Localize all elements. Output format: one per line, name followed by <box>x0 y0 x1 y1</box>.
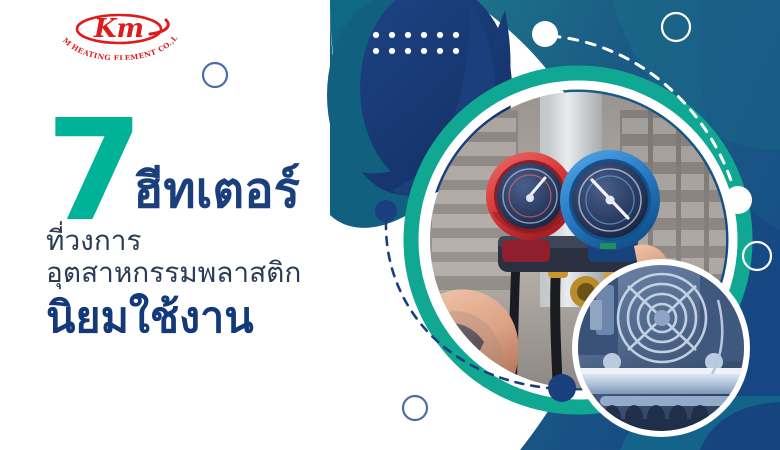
headline-final-line: นิยมใช้งาน <box>46 296 376 341</box>
headline-line-one: 7 ฮีทเตอร์ <box>46 108 376 220</box>
dashed-arc-navy-end-dot <box>548 374 576 402</box>
dashed-arc-navy-start-dot <box>375 200 397 222</box>
km-logo-mark: Km K V M HEATING ELEMENT CO.,LTD. <box>54 8 184 60</box>
svg-text:Km: Km <box>93 14 144 44</box>
blue-gauge <box>560 150 660 250</box>
dashed-arc-white-end-dot <box>724 186 752 214</box>
headline-sub-line-1: ที่วงการ <box>46 224 376 258</box>
promotional-banner: Km K V M HEATING ELEMENT CO.,LTD. 7 ฮีทเ… <box>0 0 780 450</box>
headline-block: 7 ฮีทเตอร์ ที่วงการ อุตสาหกรรมพลาสติก นิ… <box>46 108 376 341</box>
headline-word: ฮีทเตอร์ <box>133 166 300 216</box>
headline-number: 7 <box>46 117 139 226</box>
km-logo[interactable]: Km K V M HEATING ELEMENT CO.,LTD. <box>54 8 184 60</box>
headline-sub-line-2: อุตสาหกรรมพลาสติก <box>46 256 376 290</box>
dashed-arc-white-start-dot <box>532 21 558 47</box>
